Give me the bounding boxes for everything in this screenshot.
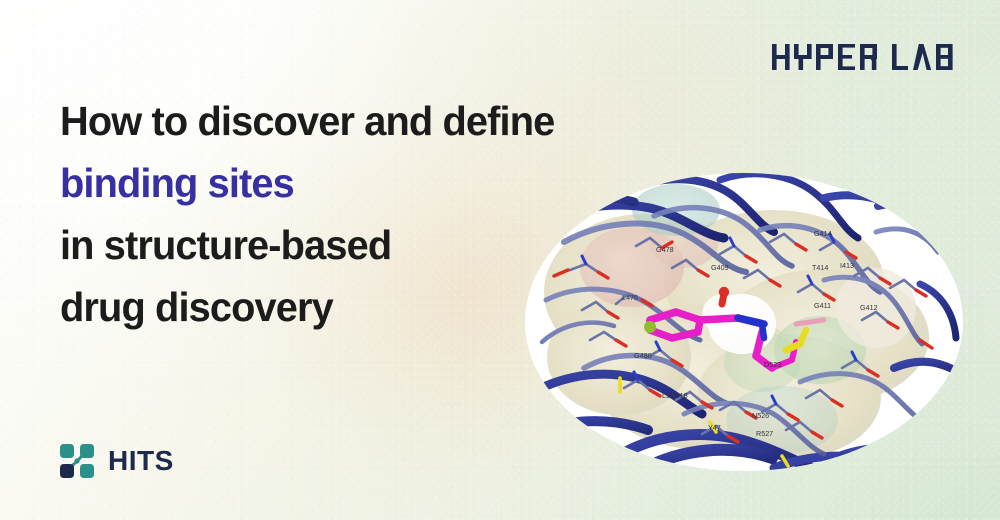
residue-label-g411: G411 [814, 301, 831, 310]
headline-line-2: binding sites [60, 152, 564, 214]
headline-line-1: How to discover and define [60, 90, 564, 152]
hyper-lab-word-two-glyphs [892, 44, 954, 70]
hits-logo[interactable]: HITS [60, 444, 192, 478]
hits-wordmark-glyphs: HITS [108, 446, 192, 476]
residue-label-i413: I413 [840, 261, 854, 270]
residue-label-d523: D523 [764, 360, 781, 369]
banner-root: How to discover and define binding sites… [0, 0, 1000, 520]
hits-tile-top-left [60, 444, 74, 458]
residue-label-g409: G409 [711, 263, 729, 272]
binding-site-illustration: G409 T414 G414 I413 G411 G412 G478 L476 … [524, 172, 964, 472]
headline-block: How to discover and define binding sites… [60, 90, 580, 338]
residue-label-g480: G480 [634, 351, 652, 360]
residue-label-n526: N526 [752, 411, 769, 420]
residue-label-y47: Y47 [708, 423, 721, 432]
residue-label-g412: G412 [860, 303, 878, 312]
hits-wordmark-text: HITS [108, 446, 174, 476]
hits-tile-bottom-right [80, 464, 94, 478]
headline-line-4: drug discovery [60, 276, 564, 338]
residue-label-g478: G478 [656, 245, 674, 254]
hyper-lab-logo[interactable] [772, 44, 954, 70]
hits-tile-bottom-left [60, 464, 74, 478]
residue-label-l476: L476 [622, 293, 638, 302]
residue-label-lse518: LSE518 [662, 391, 688, 400]
hyper-lab-word-one-glyphs [772, 44, 879, 70]
hits-tile-top-right [80, 444, 94, 458]
residue-label-g414: G414 [814, 229, 832, 238]
residue-label-t414: T414 [812, 263, 828, 272]
residue-label-r527: R527 [756, 429, 773, 438]
hits-mark-icon [60, 444, 94, 478]
binding-site-figure: G409 T414 G414 I413 G411 G412 G478 L476 … [524, 172, 964, 472]
headline-line-3: in structure-based [60, 214, 564, 276]
